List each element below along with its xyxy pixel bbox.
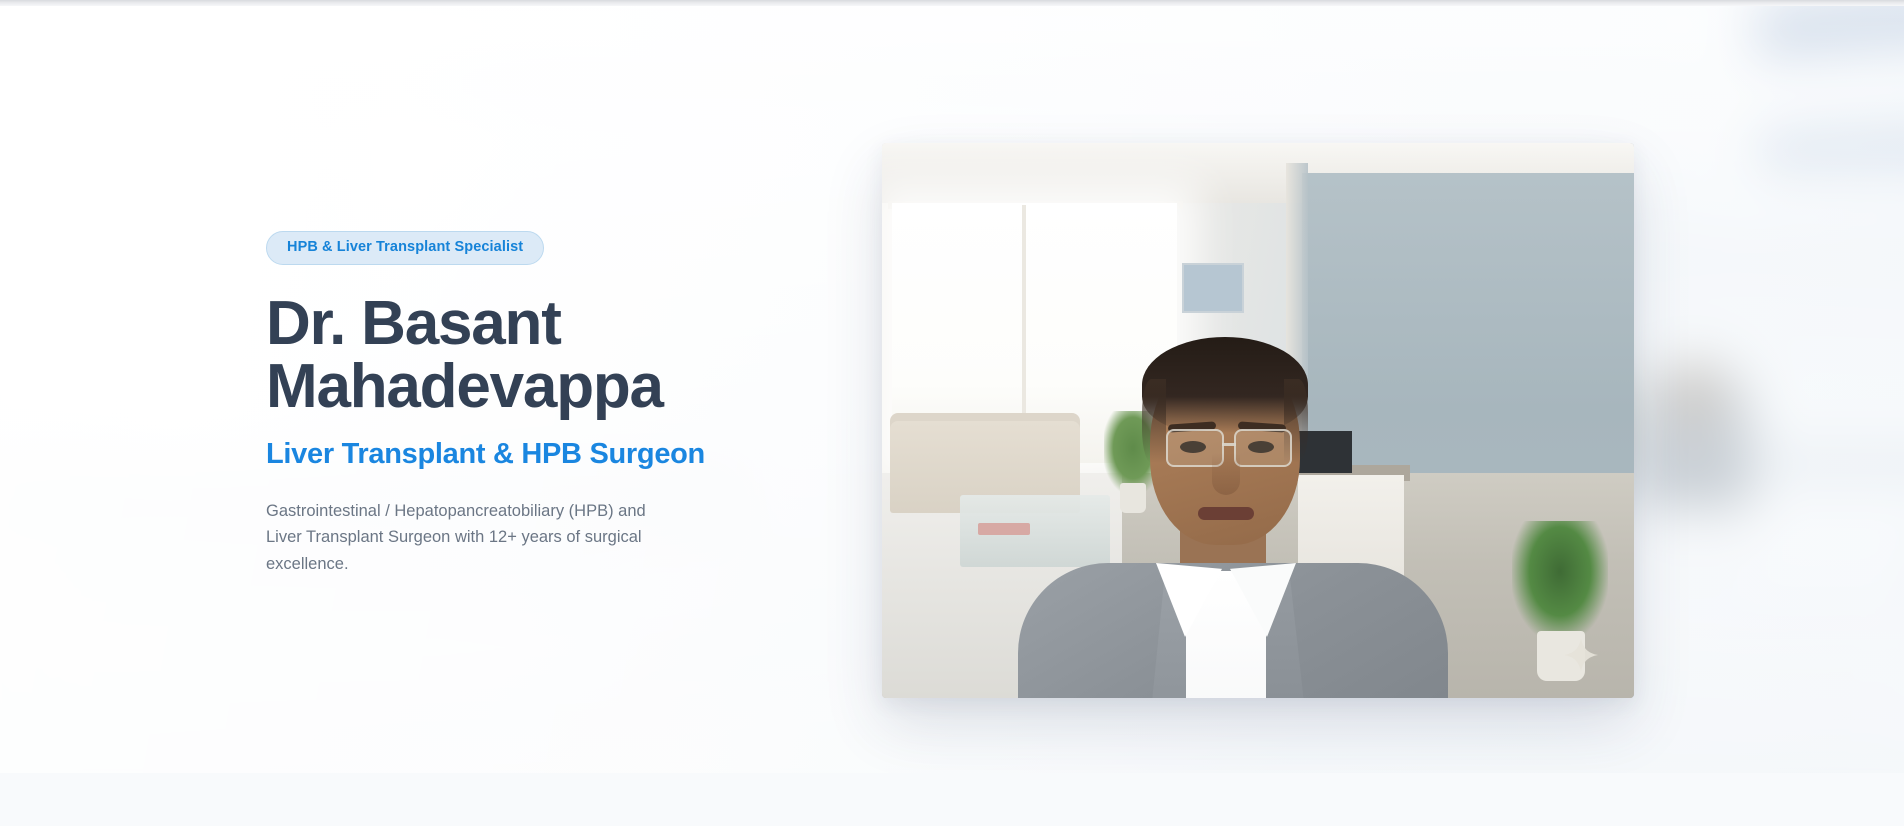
portrait-glasses-lens-right <box>1234 429 1292 467</box>
doctor-portrait-figure <box>1030 319 1450 698</box>
photo-plant-right <box>1512 521 1608 641</box>
page-title-line-1: Dr. Basant <box>266 289 561 358</box>
page-subtitle: Liver Transplant & HPB Surgeon <box>266 438 826 471</box>
page-title-line-2: Mahadevappa <box>266 352 663 421</box>
photo-wall-frame <box>1182 263 1244 313</box>
hero-copy-column: HPB & Liver Transplant Specialist Dr. Ba… <box>266 231 826 578</box>
hero-content: HPB & Liver Transplant Specialist Dr. Ba… <box>0 6 1904 773</box>
page-description: Gastrointestinal / Hepatopancreatobiliar… <box>266 498 666 578</box>
portrait-nose <box>1212 453 1240 495</box>
photo-magazine <box>978 523 1030 535</box>
hero-section: HPB & Liver Transplant Specialist Dr. Ba… <box>0 6 1904 773</box>
portrait-glasses-bridge <box>1222 443 1236 446</box>
page-title: Dr. Basant Mahadevappa <box>266 292 736 420</box>
portrait-hair-left <box>1142 379 1166 463</box>
sparkle-icon <box>1564 638 1598 672</box>
page-root: HPB & Liver Transplant Specialist Dr. Ba… <box>0 0 1904 826</box>
browser-chrome-strip <box>0 0 1904 6</box>
portrait-mouth <box>1198 507 1254 520</box>
footer-strip <box>0 773 1904 826</box>
specialty-badge[interactable]: HPB & Liver Transplant Specialist <box>266 231 544 265</box>
doctor-photo-card[interactable] <box>882 143 1634 698</box>
